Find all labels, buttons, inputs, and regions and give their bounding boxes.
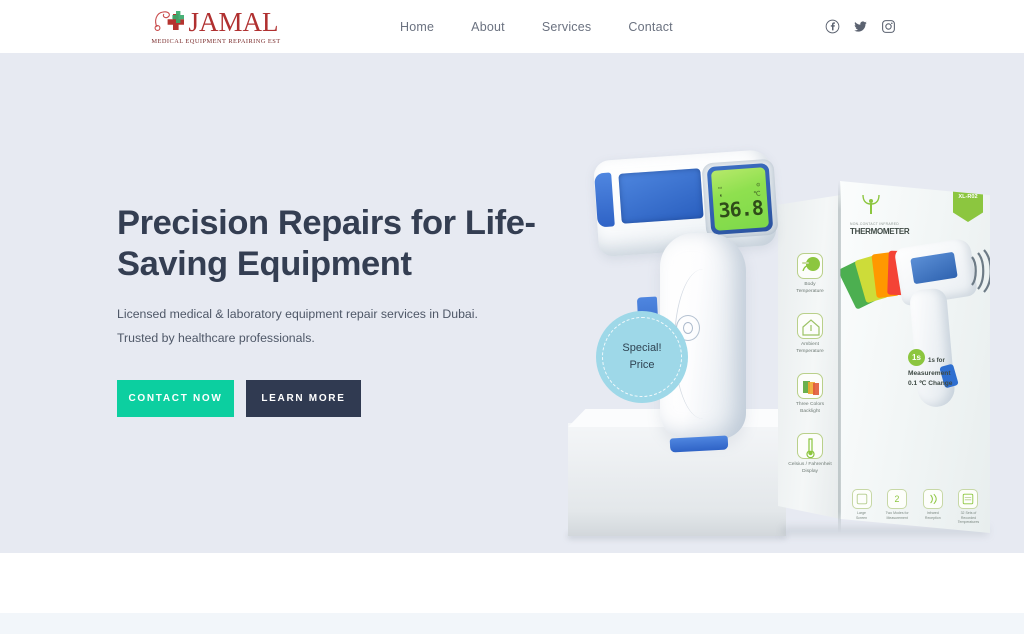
lcd-temperature-value: 36.8 xyxy=(718,198,763,219)
box-bottom-feature-memory: 32 Sets of Recorded Temperatures xyxy=(953,489,984,525)
special-price-badge[interactable]: Special! Price xyxy=(596,311,688,403)
feature-label: Infrared Reception xyxy=(925,511,941,520)
main-navigation: Home About Services Contact xyxy=(400,0,673,53)
box-feature-label: Celsius / Fahrenheit Display xyxy=(788,462,832,475)
social-links xyxy=(825,0,896,53)
box-highlight: 1s 1s for Measurement 0.1 ℃ Change xyxy=(908,349,986,389)
brand-glyph-icon xyxy=(860,193,882,217)
hero-section: Precision Repairs for Life-Saving Equipm… xyxy=(0,53,1024,553)
box-gun-grip xyxy=(909,288,956,409)
memory-icon xyxy=(958,489,978,509)
box-highlight-body: Measurement 0.1 ℃ Change xyxy=(908,369,986,389)
product-image: Body Temperature Ambient Temperature xyxy=(520,103,1020,543)
infrared-icon xyxy=(923,489,943,509)
one-second-badge: 1s xyxy=(908,349,925,366)
box-brand-logo: NON-CONTACT INFRARED THERMOMETER xyxy=(850,193,924,236)
nav-item-contact[interactable]: Contact xyxy=(628,20,672,34)
spec-line xyxy=(672,170,673,187)
twitter-icon xyxy=(853,19,868,34)
learn-more-button[interactable]: LEARN MORE xyxy=(246,380,361,417)
hero-subcopy-line1: Licensed medical & laboratory equipment … xyxy=(117,307,478,321)
box-highlight-line2: Measurement xyxy=(908,369,986,379)
box-front-panel: NON-CONTACT INFRARED THERMOMETER XL-R02 xyxy=(840,181,990,533)
page-root: JAMAL MEDICAL EQUIPMENT REPAIRING EST Ho… xyxy=(0,0,1024,634)
feature-label: Large Screen xyxy=(856,511,867,520)
spec-line xyxy=(684,169,685,186)
two-modes-icon: 2 xyxy=(887,489,907,509)
feature-label: 32 Sets of Recorded Temperatures xyxy=(958,511,979,525)
hero-subcopy: Licensed medical & laboratory equipment … xyxy=(117,303,537,349)
special-price-line1: Special! xyxy=(622,340,661,357)
infrared-thermometer: ▭ ☺ ◖ ℃ 36.8 xyxy=(582,149,812,449)
thermometer-lcd-display: ▭ ☺ ◖ ℃ 36.8 xyxy=(711,167,769,231)
spec-line xyxy=(660,171,661,188)
thermometer-spec-label xyxy=(618,168,703,224)
twitter-link[interactable] xyxy=(853,19,868,34)
instagram-link[interactable] xyxy=(881,19,896,34)
nav-item-home[interactable]: Home xyxy=(400,20,434,34)
special-price-line2: Price xyxy=(629,357,654,374)
box-highlight-top: 1s 1s for xyxy=(908,349,986,366)
facebook-icon xyxy=(825,19,840,34)
spec-line xyxy=(648,172,649,189)
spec-line xyxy=(696,168,697,185)
box-highlight-line3: 0.1 ℃ Change xyxy=(908,379,986,389)
logo-tagline: MEDICAL EQUIPMENT REPAIRING EST xyxy=(151,38,280,45)
box-brand-subtitle: NON-CONTACT INFRARED xyxy=(850,222,924,226)
hero-button-row: CONTACT NOW LEARN MORE xyxy=(117,380,537,417)
medical-cross-stethoscope-icon xyxy=(153,7,187,37)
svg-text:2: 2 xyxy=(895,495,900,505)
facebook-link[interactable] xyxy=(825,19,840,34)
box-front-edge xyxy=(838,181,841,533)
site-logo[interactable]: JAMAL MEDICAL EQUIPMENT REPAIRING EST xyxy=(146,4,286,48)
logo-wordmark: JAMAL xyxy=(188,9,278,36)
content-band xyxy=(0,553,1024,613)
thermometer-power-button-inner xyxy=(683,322,693,334)
contact-now-button[interactable]: CONTACT NOW xyxy=(117,380,234,417)
page-footer-band xyxy=(0,613,1024,634)
logo-top-row: JAMAL xyxy=(153,7,278,37)
spec-label-title xyxy=(624,174,625,191)
box-highlight-line1: 1s for xyxy=(928,357,945,366)
box-bottom-features: Large Screen 2 Two Modes for Measurement xyxy=(846,489,984,525)
spec-line xyxy=(636,173,637,190)
nav-item-services[interactable]: Services xyxy=(542,20,592,34)
instagram-icon xyxy=(881,19,896,34)
page-title: Precision Repairs for Life-Saving Equipm… xyxy=(117,203,537,284)
large-screen-icon xyxy=(852,489,872,509)
feature-label: Two Modes for Measurement xyxy=(886,511,909,520)
hero-copy: Precision Repairs for Life-Saving Equipm… xyxy=(117,203,537,417)
box-bottom-feature-large-screen: Large Screen xyxy=(846,489,877,525)
site-header: JAMAL MEDICAL EQUIPMENT REPAIRING EST Ho… xyxy=(0,0,1024,53)
box-bottom-feature-two-modes: 2 Two Modes for Measurement xyxy=(882,489,913,525)
box-model-badge: XL-R02 xyxy=(953,188,983,222)
hero-subcopy-line2: Trusted by healthcare professionals. xyxy=(117,331,315,345)
box-bottom-feature-infrared: Infrared Reception xyxy=(917,489,948,525)
infrared-waves-icon xyxy=(968,249,990,293)
nav-item-about[interactable]: About xyxy=(471,20,505,34)
